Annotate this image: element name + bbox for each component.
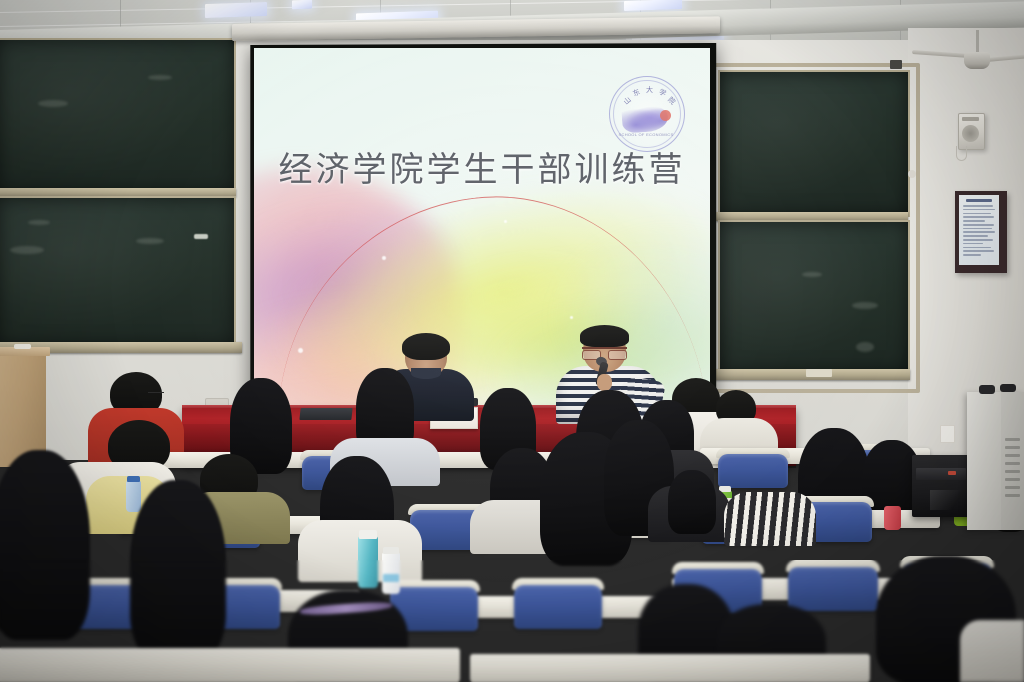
student-desk <box>0 648 460 682</box>
audience-head <box>668 470 716 534</box>
water-bottle <box>382 552 400 594</box>
left-blackboard-lower <box>0 196 236 348</box>
right-blackboard-upper <box>718 70 910 217</box>
water-bottle <box>126 480 141 512</box>
classroom-chair <box>514 585 602 629</box>
classroom-chair <box>788 567 878 611</box>
wall-fixture <box>908 170 916 178</box>
amplifier-led-icon <box>948 471 956 475</box>
bottle-cap <box>383 547 399 554</box>
logo-dot-icon <box>660 110 671 121</box>
speaker-knobs <box>962 117 979 121</box>
eyeglasses-icon <box>582 347 627 357</box>
blackboard-clip <box>890 60 902 69</box>
cabinet-top-item <box>1000 384 1016 392</box>
speaker-cord <box>956 146 967 161</box>
framed-notice-paper <box>959 195 999 265</box>
left-blackboard-upper <box>0 38 236 194</box>
logo-character: 大 <box>646 85 653 95</box>
seated-man-left-hair <box>402 333 450 360</box>
chalk-piece <box>14 344 31 349</box>
speaker-with-microphone-hair <box>580 325 629 347</box>
audience-head <box>130 480 226 660</box>
audience-torso <box>960 620 1024 682</box>
water-bottle <box>358 536 378 588</box>
bottle-cap <box>127 476 140 482</box>
ceiling-light <box>292 0 312 9</box>
ceiling-fan-rod <box>976 30 979 54</box>
light-switch[interactable] <box>940 425 955 443</box>
blackboard-tag <box>806 369 832 377</box>
audience-head <box>0 450 90 640</box>
amplifier-panel <box>916 468 966 480</box>
student-desk <box>470 654 870 682</box>
ceiling-light <box>205 2 267 18</box>
projector-screen: 经济学院学生干部训练营 山 东 大 学 院 SCHOOL OF ECONOMIC… <box>254 48 710 414</box>
seated-man-left-collar <box>411 368 441 379</box>
eyeglasses-icon <box>148 392 164 398</box>
classroom-chair <box>718 454 788 488</box>
audience-torso <box>724 492 816 546</box>
speaker-hand <box>597 374 612 391</box>
metal-cabinet-side <box>1001 392 1024 530</box>
speaker-grill-icon <box>962 125 979 142</box>
ceiling-fan-motor <box>964 52 990 69</box>
bottle-label <box>383 574 399 582</box>
water-bottle <box>884 506 901 530</box>
lecture-hall-photo: ProScreen 经济学院学生干部训练营 山 东 大 学 院 SCHOOL O… <box>0 0 1024 682</box>
slide-title: 经济学院学生干部训练营 <box>266 153 698 187</box>
logo-latin-text: SCHOOL OF ECONOMICS <box>616 132 676 137</box>
right-blackboard-lower <box>718 220 910 374</box>
bottle-cap <box>359 530 377 539</box>
cabinet-top-item <box>979 385 995 394</box>
notice-title-bar <box>966 199 992 202</box>
chalk-piece <box>194 234 208 239</box>
laptop-on-table <box>299 408 352 420</box>
